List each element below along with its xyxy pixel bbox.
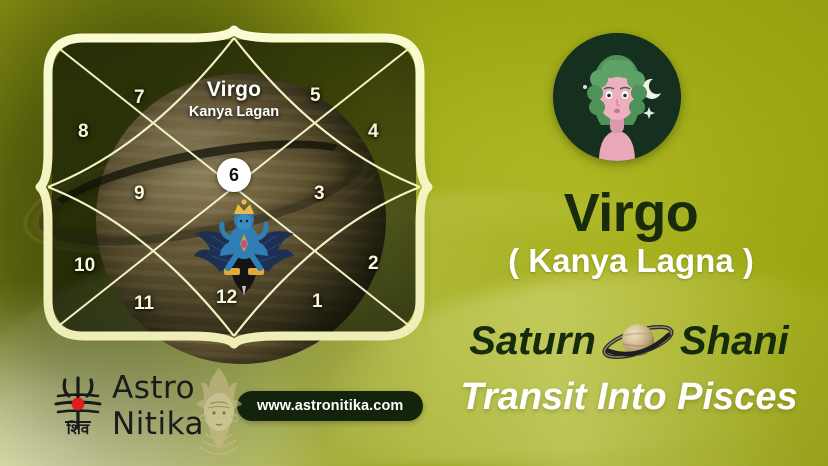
brand-line-2: Nitika [112,406,204,442]
house-number-5: 5 [310,86,321,105]
house-number-2: 2 [368,254,379,273]
saturn-planet-icon [600,318,676,364]
house-number-4: 4 [368,122,379,141]
house-number-12: 12 [216,288,237,307]
headline-sign: Virgo [436,186,826,240]
lagna-number-badge: 6 [217,158,251,192]
shiv-trishul-icon: शिव [52,372,104,448]
house-number-3: 3 [314,184,325,203]
brand-line-1: Astro [112,370,195,406]
house-number-8: 8 [78,122,89,141]
virgo-avatar [553,33,681,161]
virgo-maiden-illustration [553,33,681,161]
saturn-label-hi: Shani [680,321,789,361]
house-number-10: 10 [74,256,95,275]
brand-logo[interactable]: शिव Astro Nitika [52,368,238,452]
astrology-transit-banner: Virgo Kanya Lagan 6 [0,0,828,466]
house-number-9: 9 [134,184,145,203]
star-dot-left [583,85,587,89]
brand-wordmark: Astro Nitika [112,370,204,442]
headline-saturn-shani: Saturn [430,318,828,364]
chart-sign-subtitle: Kanya Lagan [38,104,430,120]
kundli-chart: Virgo Kanya Lagan 6 [38,28,430,346]
headline-lagna: ( Kanya Lagna ) [436,243,826,279]
house-number-7: 7 [134,88,145,107]
shani-dev-icon [190,198,298,296]
house-number-1: 1 [312,292,323,311]
website-url-badge[interactable]: www.astronitika.com [237,391,423,421]
house-number-11: 11 [134,294,154,313]
saturn-label-en: Saturn [469,321,596,361]
headline-transit: Transit Into Pisces [430,378,828,416]
chart-sign-title: Virgo [38,78,430,102]
